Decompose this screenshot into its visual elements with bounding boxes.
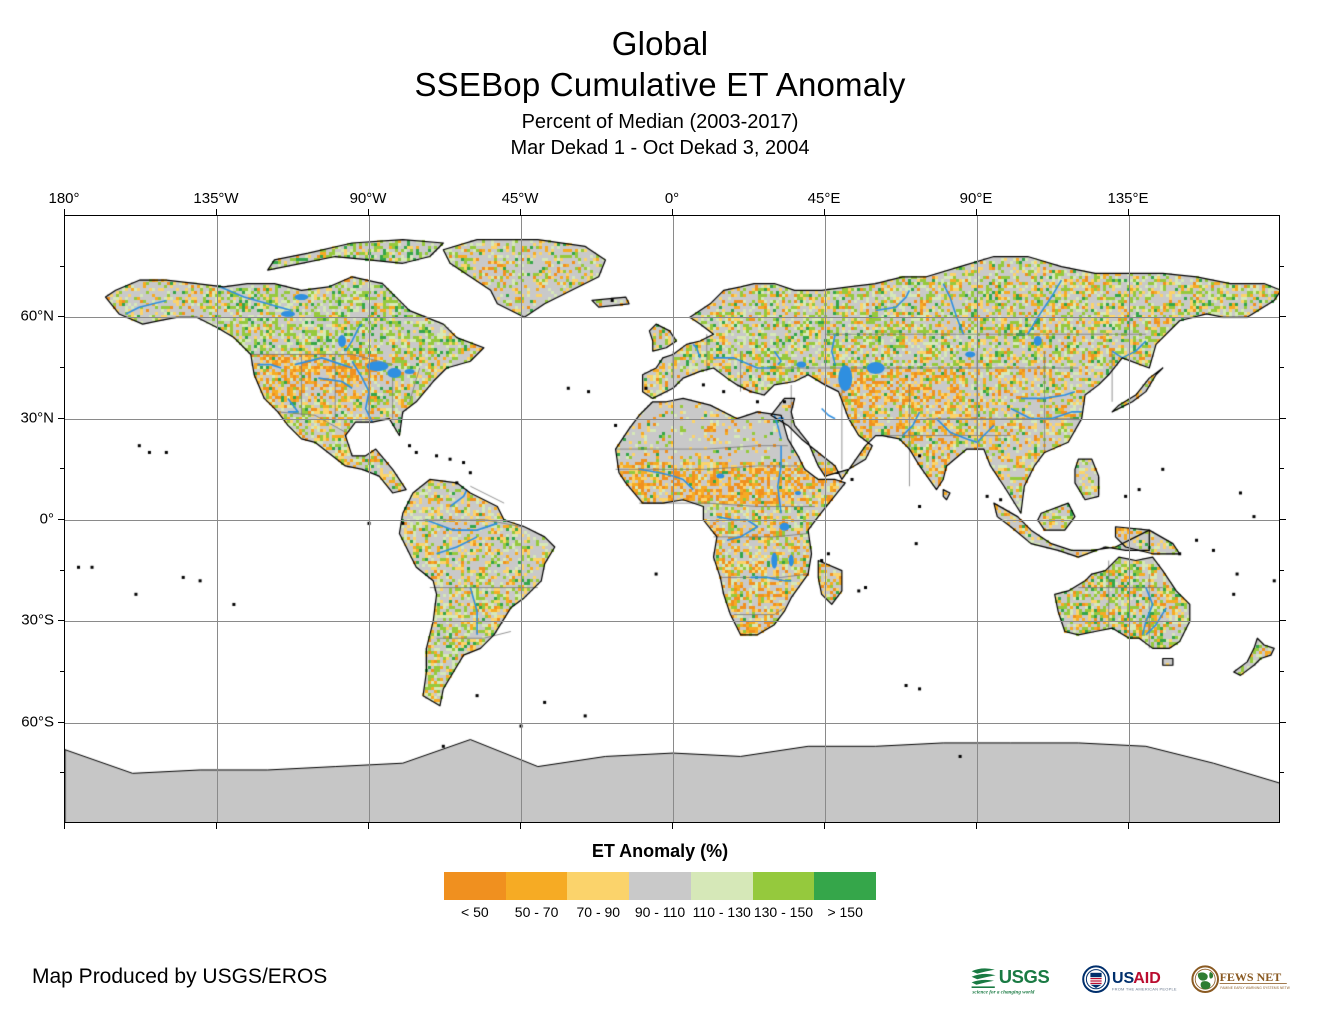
legend-label-5: 130 - 150	[753, 904, 815, 920]
axis-tick-top	[520, 209, 521, 215]
lon-tick-label: 45°W	[502, 190, 539, 207]
globe-icon	[1192, 966, 1218, 992]
lon-tick-label: 135°W	[193, 190, 238, 207]
page-title-line-1: Global	[0, 24, 1320, 64]
svg-text:FAMINE EARLY WARNING SYSTEMS N: FAMINE EARLY WARNING SYSTEMS NETWORK	[1220, 986, 1290, 990]
legend-swatch-6	[814, 872, 876, 900]
usaid-logo: US AID FROM THE AMERICAN PEOPLE	[1080, 960, 1180, 1000]
axis-tick-top	[672, 209, 673, 215]
legend-swatch-5	[753, 872, 815, 900]
axis-tick-top	[976, 209, 977, 215]
axis-tick-right	[1280, 722, 1286, 723]
legend-swatch-0	[444, 872, 506, 900]
svg-text:science for a changing world: science for a changing world	[971, 990, 1034, 996]
axis-minor-tick-left	[60, 266, 64, 267]
page-title-line-2: SSEBop Cumulative ET Anomaly	[0, 64, 1320, 106]
axis-tick-top	[216, 209, 217, 215]
legend-swatch-3	[629, 872, 691, 900]
axis-minor-tick-left	[60, 468, 64, 469]
axis-tick-top	[1128, 209, 1129, 215]
fewsnet-logo: FEWS NET FAMINE EARLY WARNING SYSTEMS NE…	[1190, 960, 1290, 1000]
axis-tick-right	[1280, 519, 1286, 520]
legend-label-2: 70 - 90	[567, 904, 629, 920]
lat-tick-label: 60°S	[0, 713, 54, 730]
axis-tick-left	[58, 519, 64, 520]
map-area[interactable]	[64, 215, 1280, 823]
svg-text:AID: AID	[1133, 970, 1161, 987]
legend-block: ET Anomaly (%) < 5050 - 7070 - 9090 - 11…	[0, 840, 1320, 920]
subtitle-percent-of-median: Percent of Median (2003-2017)	[0, 109, 1320, 135]
legend-color-bar	[444, 872, 876, 900]
axis-minor-tick-left	[60, 772, 64, 773]
lat-tick-label: 30°S	[0, 612, 54, 629]
axis-tick-right	[1280, 418, 1286, 419]
lon-tick-label: 180°	[48, 190, 79, 207]
axis-tick-bottom	[520, 823, 521, 829]
lon-tick-label: 45°E	[808, 190, 841, 207]
axis-tick-left	[58, 418, 64, 419]
svg-text:FROM THE AMERICAN PEOPLE: FROM THE AMERICAN PEOPLE	[1112, 986, 1177, 991]
lat-tick-label: 60°N	[0, 308, 54, 325]
axis-tick-bottom	[672, 823, 673, 829]
axis-tick-bottom	[216, 823, 217, 829]
et-anomaly-raster-layer[interactable]	[65, 216, 1280, 823]
axis-minor-tick-left	[60, 570, 64, 571]
map-credit: Map Produced by USGS/EROS	[32, 965, 327, 989]
legend-label-4: 110 - 130	[691, 904, 753, 920]
axis-tick-right	[1280, 620, 1286, 621]
title-block: Global SSEBop Cumulative ET Anomaly Perc…	[0, 24, 1320, 161]
legend-title: ET Anomaly (%)	[0, 840, 1320, 862]
legend-swatch-2	[567, 872, 629, 900]
subtitle-date-range: Mar Dekad 1 - Oct Dekad 3, 2004	[0, 135, 1320, 161]
lon-tick-label: 0°	[665, 190, 679, 207]
lat-tick-label: 0°	[0, 511, 54, 528]
axis-minor-tick-right	[1280, 468, 1284, 469]
axis-tick-bottom	[368, 823, 369, 829]
lon-tick-label: 90°W	[350, 190, 387, 207]
axis-tick-left	[58, 722, 64, 723]
legend-swatch-1	[506, 872, 568, 900]
lon-tick-label: 135°E	[1107, 190, 1148, 207]
axis-tick-left	[58, 316, 64, 317]
map-frame[interactable]	[64, 215, 1280, 823]
axis-minor-tick-right	[1280, 570, 1284, 571]
svg-text:USGS: USGS	[999, 966, 1050, 987]
legend-swatch-4	[691, 872, 753, 900]
axis-tick-top	[368, 209, 369, 215]
axis-tick-left	[58, 620, 64, 621]
lon-tick-label: 90°E	[960, 190, 993, 207]
axis-tick-bottom	[824, 823, 825, 829]
svg-text:FEWS NET: FEWS NET	[1220, 970, 1282, 984]
usaid-seal-icon	[1083, 966, 1109, 992]
axis-minor-tick-left	[60, 671, 64, 672]
axis-minor-tick-right	[1280, 367, 1284, 368]
axis-tick-bottom	[64, 823, 65, 829]
axis-tick-bottom	[976, 823, 977, 829]
legend-label-1: 50 - 70	[506, 904, 568, 920]
legend-label-6: > 150	[814, 904, 876, 920]
axis-minor-tick-right	[1280, 671, 1284, 672]
lat-tick-label: 30°N	[0, 409, 54, 426]
axis-tick-bottom	[1128, 823, 1129, 829]
axis-minor-tick-right	[1280, 772, 1284, 773]
svg-text:US: US	[1112, 970, 1135, 987]
legend-label-0: < 50	[444, 904, 506, 920]
legend-class-labels: < 5050 - 7070 - 9090 - 110110 - 130130 -…	[444, 904, 876, 920]
axis-minor-tick-left	[60, 367, 64, 368]
axis-tick-top	[64, 209, 65, 215]
logo-row: USGS science for a changing world US AID…	[970, 958, 1290, 1002]
legend-label-3: 90 - 110	[629, 904, 691, 920]
axis-tick-top	[824, 209, 825, 215]
usgs-logo: USGS science for a changing world	[970, 960, 1070, 1000]
axis-minor-tick-right	[1280, 266, 1284, 267]
axis-tick-right	[1280, 316, 1286, 317]
